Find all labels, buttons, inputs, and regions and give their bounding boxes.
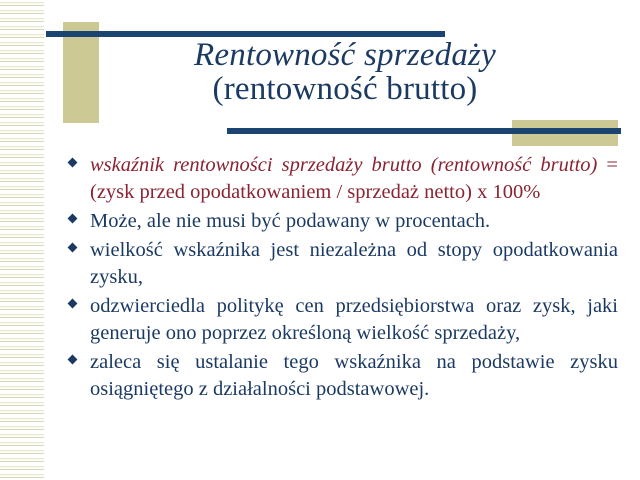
list-item: zaleca się ustalanie tego wskaźnika na p… <box>66 349 618 403</box>
title-line-secondary: (rentowność brutto) <box>110 72 580 106</box>
list-item: odzwierciedla politykę cen przedsiębiors… <box>66 293 618 347</box>
list-item: wielkość wskaźnika jest niezależna od st… <box>66 237 618 291</box>
list-item-text: Może, ale nie musi być podawany w procen… <box>90 208 618 235</box>
slide-canvas: Rentowność sprzedaży (rentowność brutto)… <box>0 0 640 480</box>
list-item-text: odzwierciedla politykę cen przedsiębiors… <box>90 293 618 347</box>
khaki-vertical-block <box>63 22 99 123</box>
diamond-bullet-icon <box>68 157 78 167</box>
diamond-bullet-icon <box>68 354 78 364</box>
list-item-text: zaleca się ustalanie tego wskaźnika na p… <box>90 349 618 403</box>
title-line-primary: Rentowność sprzedaży <box>110 38 580 72</box>
list-item: wskaźnik rentowności sprzedaży brutto (r… <box>66 152 618 206</box>
left-stripe-decoration <box>0 0 44 480</box>
list-item-text: wskaźnik rentowności sprzedaży brutto (r… <box>90 152 618 206</box>
diamond-bullet-icon <box>68 298 78 308</box>
navy-bar-bottom <box>227 128 621 134</box>
list-item-text: wielkość wskaźnika jest niezależna od st… <box>90 237 618 291</box>
list-item-emphasis: wskaźnik rentowności sprzedaży brutto (r… <box>90 154 597 176</box>
bullet-list: wskaźnik rentowności sprzedaży brutto (r… <box>66 152 618 403</box>
list-item: Może, ale nie musi być podawany w procen… <box>66 208 618 235</box>
diamond-bullet-icon <box>68 242 78 252</box>
diamond-bullet-icon <box>68 213 78 223</box>
slide-title: Rentowność sprzedaży (rentowność brutto) <box>110 38 580 107</box>
